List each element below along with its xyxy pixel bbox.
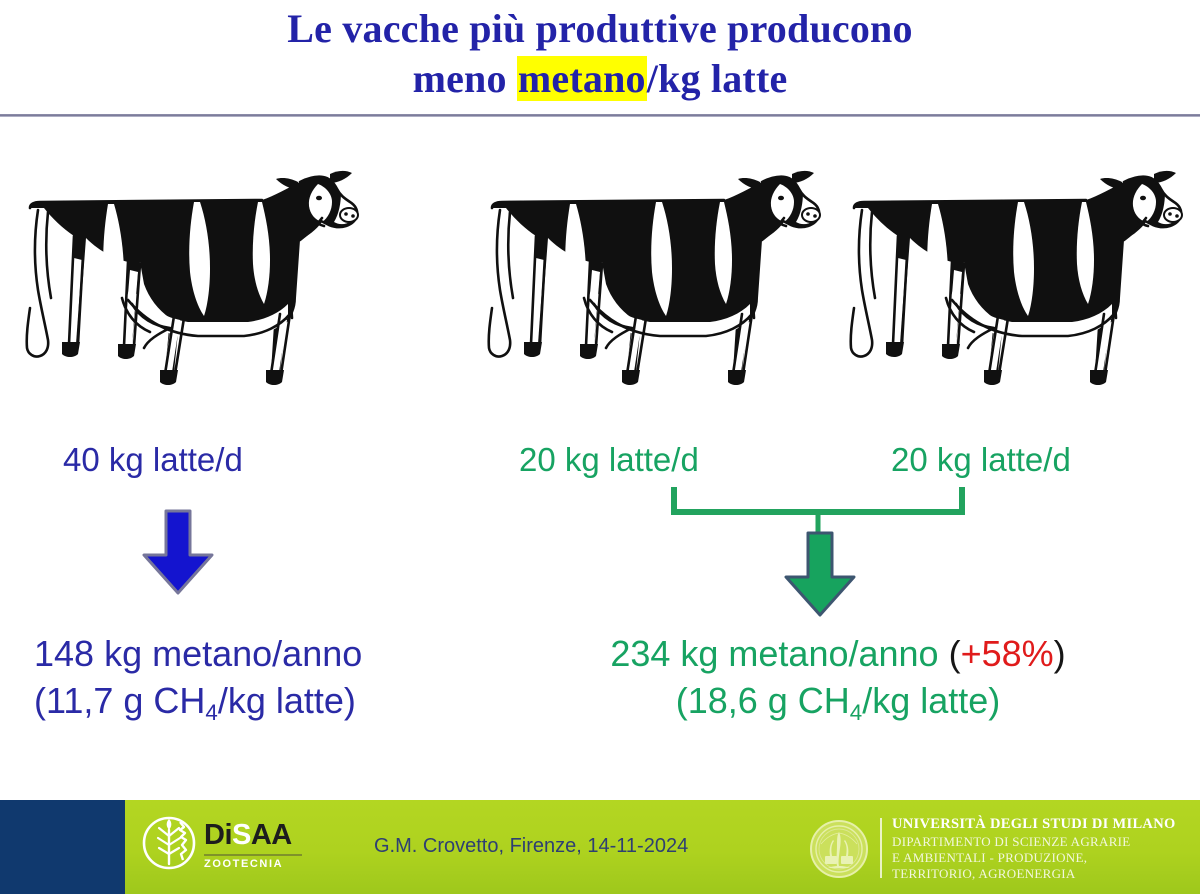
result-left-line1: 148 kg metano/anno [34, 633, 362, 674]
result-left-line2-close: /kg latte) [218, 680, 356, 721]
paren-open: ( [949, 633, 961, 674]
result-right-line2-sub: 4 [850, 700, 862, 725]
unimi-dept-line-2: E AMBIENTALI - PRODUZIONE, [892, 850, 1192, 866]
page-title: Le vacche più produttive producono meno … [0, 4, 1200, 104]
title-highlight-metano: metano [517, 56, 647, 101]
unimi-title: UNIVERSITÀ DEGLI STUDI DI MILANO [892, 815, 1192, 834]
milk-yield-label-middle: 20 kg latte/d [519, 441, 699, 479]
milk-yield-label-right: 20 kg latte/d [891, 441, 1071, 479]
result-text-right: 234 kg metano/anno (+58%) (18,6 g CH4/kg… [578, 630, 1098, 729]
down-arrow-blue-icon [140, 509, 216, 595]
cow-illustration-2 [474, 158, 826, 398]
title-line-1: Le vacche più produttive producono [0, 4, 1200, 54]
result-left-line2-open: (11,7 g CH [34, 680, 205, 721]
title-line2-prefix: meno [413, 56, 517, 101]
unimi-dept-line-1: DIPARTIMENTO DI SCIENZE AGRARIE [892, 834, 1192, 850]
footer-navy-block [0, 800, 125, 894]
title-line2-suffix: /kg latte [647, 56, 788, 101]
result-left-line2-sub: 4 [205, 700, 217, 725]
title-line-2: meno metano/kg latte [0, 54, 1200, 104]
result-right-line2: (18,6 g CH4/kg latte) [578, 677, 1098, 729]
cow-illustration-3 [836, 158, 1188, 398]
disaa-logo: DiSAA ZOOTECNIA [138, 812, 298, 884]
footer-credit-text: G.M. Crovetto, Firenze, 14-11-2024 [374, 835, 688, 858]
disaa-word-di: Di [204, 819, 232, 851]
paren-close: ) [1054, 633, 1066, 674]
unimi-dept-line-3: TERRITORIO, AGROENERGIA [892, 866, 1192, 882]
header-divider [0, 114, 1200, 117]
unimi-crest-icon [808, 818, 870, 880]
disaa-word-aa: AA [251, 819, 292, 851]
result-right-line1: 234 kg metano/anno (+58%) [578, 630, 1098, 677]
unimi-text-block: UNIVERSITÀ DEGLI STUDI DI MILANO DIPARTI… [892, 815, 1192, 882]
result-right-main: 234 kg metano/anno [610, 633, 948, 674]
increase-percent-badge: +58% [961, 633, 1054, 674]
disaa-word-s: S [232, 819, 251, 851]
down-arrow-green-icon [782, 531, 858, 617]
result-text-left: 148 kg metano/anno (11,7 g CH4/kg latte) [34, 630, 362, 729]
unimi-divider [880, 818, 882, 878]
disaa-wordmark: DiSAA [204, 820, 292, 850]
cow-illustration-1 [12, 158, 364, 398]
result-right-line2-open: (18,6 g CH [676, 680, 850, 721]
leaf-circle-icon [138, 814, 200, 876]
slide-canvas: Le vacche più produttive producono meno … [0, 0, 1200, 894]
disaa-subtitle: ZOOTECNIA [204, 858, 283, 870]
result-left-line2: (11,7 g CH4/kg latte) [34, 677, 362, 729]
milk-yield-label-left: 40 kg latte/d [63, 441, 243, 479]
disaa-underline [204, 854, 302, 856]
result-right-line2-close: /kg latte) [862, 680, 1000, 721]
